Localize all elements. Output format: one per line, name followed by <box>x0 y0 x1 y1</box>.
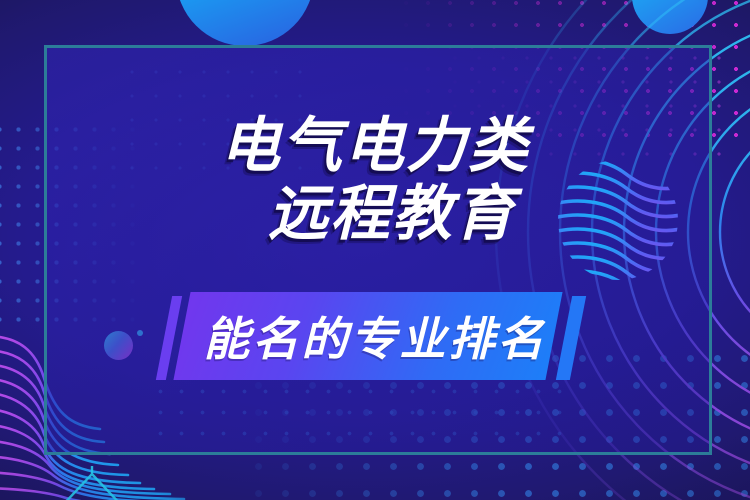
page-title: 电气电力类 远程教育 <box>0 112 750 248</box>
subtitle-text: 能名的专业排名 <box>0 292 750 380</box>
poster-canvas: 电气电力类 远程教育 能名的专业排名 <box>0 0 750 500</box>
title-line-1: 电气电力类 <box>0 112 750 180</box>
blue-gradient-circle-icon <box>176 0 314 46</box>
title-line-2: 远程教育 <box>0 180 750 248</box>
cyan-chevron-icon <box>58 462 188 500</box>
